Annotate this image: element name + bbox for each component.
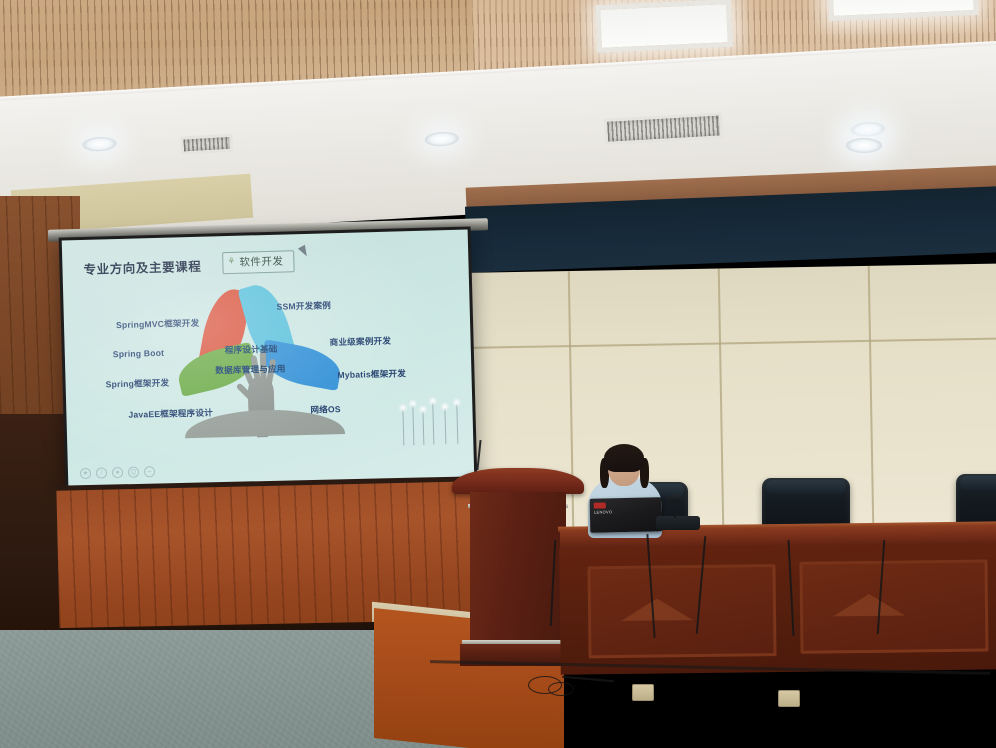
presentation-slide: 专业方向及主要课程 ⚘ 软件开发 bbox=[62, 230, 475, 489]
slide-label-database: 数据库管理与应用 bbox=[215, 363, 286, 377]
desk-microphone-base bbox=[656, 516, 700, 530]
wall-seam-3 bbox=[868, 266, 875, 526]
projection-screen: 专业方向及主要课程 ⚘ 软件开发 bbox=[59, 226, 478, 491]
chair-2-headrest bbox=[766, 480, 846, 494]
slide-title: 专业方向及主要课程 bbox=[83, 256, 201, 278]
lecture-hall-photo: 专业方向及主要课程 ⚘ 软件开发 bbox=[0, 0, 996, 748]
slide-label-springmvc: SpringMVC框架开发 bbox=[116, 317, 200, 331]
mouse-cursor-icon bbox=[298, 245, 310, 259]
slide-label-commercial: 商业级案例开发 bbox=[329, 335, 391, 349]
ceiling-vent-2 bbox=[604, 112, 723, 145]
desk-microphone-stem bbox=[674, 502, 676, 518]
slide-watermark-icons: ★ / ● Q – bbox=[80, 466, 155, 479]
ceiling-vent-1 bbox=[180, 134, 233, 155]
sprout-icon: ⚘ bbox=[227, 256, 235, 267]
circle-q-icon: Q bbox=[128, 467, 139, 478]
chair-3-headrest bbox=[960, 476, 996, 490]
slide-label-spring: Spring框架开发 bbox=[105, 377, 169, 391]
slide-label-ssm: SSM开发案例 bbox=[276, 299, 331, 312]
skylight-1 bbox=[595, 0, 733, 53]
slide-badge: ⚘ 软件开发 bbox=[222, 250, 295, 274]
downlight-4 bbox=[846, 138, 882, 153]
downlight-3 bbox=[850, 121, 885, 137]
circle-a-icon: ★ bbox=[80, 468, 91, 479]
downlight-1 bbox=[82, 136, 117, 152]
slide-label-mybatis: Mybatis框架开发 bbox=[337, 367, 406, 381]
table-chevron-1 bbox=[621, 598, 693, 621]
slide-label-network-os: 网络OS bbox=[310, 403, 341, 416]
slide-badge-label: 软件开发 bbox=[239, 256, 283, 269]
slide-label-programming-basics: 程序设计基础 bbox=[225, 343, 278, 356]
laptop-brand-label: LENOVO bbox=[594, 509, 613, 514]
circle-dash-icon: – bbox=[144, 466, 155, 477]
cable-run-1 bbox=[562, 676, 614, 683]
table-panel-2 bbox=[799, 559, 988, 653]
laptop-logo bbox=[594, 502, 606, 508]
slide-label-javaee: JavaEE框架程序设计 bbox=[128, 407, 213, 421]
floor-outlet-2 bbox=[778, 690, 800, 707]
conference-table-front bbox=[559, 543, 996, 674]
table-panel-1 bbox=[587, 564, 776, 658]
laptop: LENOVO bbox=[590, 497, 663, 533]
table-chevron-2 bbox=[833, 594, 905, 617]
coiled-cable-2 bbox=[548, 682, 574, 696]
presenter-hair bbox=[604, 444, 644, 472]
podium-desktop bbox=[452, 468, 584, 494]
circle-dot-icon: ● bbox=[112, 467, 123, 478]
slide-label-springboot: Spring Boot bbox=[113, 348, 165, 359]
downlight-2 bbox=[424, 131, 459, 147]
floor-outlet-1 bbox=[632, 684, 654, 701]
wall-seam-h1 bbox=[467, 337, 996, 349]
circle-slash-icon: / bbox=[96, 467, 107, 478]
wall-seam-2 bbox=[718, 268, 725, 528]
desk-microphone-head bbox=[668, 494, 682, 502]
